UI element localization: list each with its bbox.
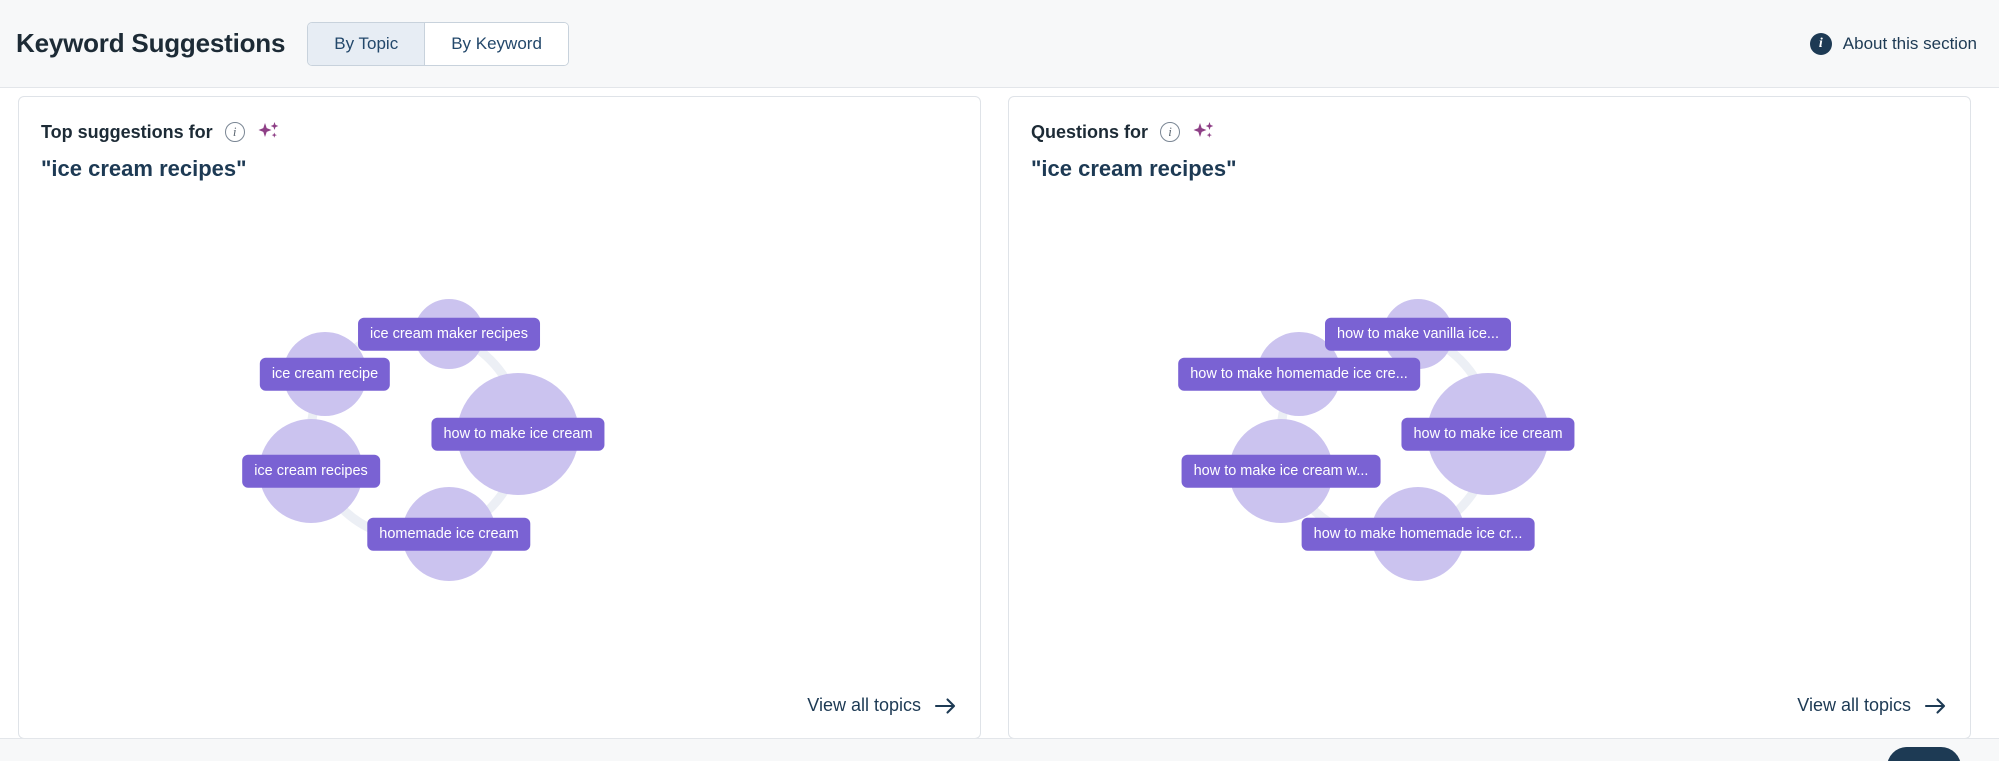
bubble-label[interactable]: ice cream maker recipes	[358, 318, 540, 351]
bubble-label[interactable]: how to make ice cream	[431, 418, 604, 451]
view-all-topics-link[interactable]: View all topics	[807, 695, 958, 716]
bubble-label[interactable]: how to make homemade ice cre...	[1178, 358, 1420, 391]
card-title: Top suggestions for	[41, 122, 213, 143]
card-title: Questions for	[1031, 122, 1148, 143]
info-outline-icon[interactable]: i	[225, 122, 245, 142]
card-keyword: "ice cream recipes"	[41, 156, 281, 182]
info-filled-icon: i	[1810, 33, 1832, 55]
bubble-graph-topics: ice cream maker recipes ice cream recipe…	[19, 207, 982, 657]
bottom-strip	[0, 738, 1999, 761]
bubble-label[interactable]: ice cream recipe	[260, 358, 390, 391]
tab-by-keyword[interactable]: By Keyword	[425, 23, 568, 65]
chat-widget-button[interactable]	[1887, 747, 1961, 761]
about-this-section-link[interactable]: i About this section	[1810, 33, 1977, 55]
bubble-label[interactable]: how to make ice cream w...	[1182, 455, 1381, 488]
about-this-section-label: About this section	[1843, 34, 1977, 54]
bubble-label[interactable]: homemade ice cream	[367, 518, 530, 551]
view-mode-tabs: By Topic By Keyword	[307, 22, 569, 66]
sparkle-icon	[1192, 121, 1216, 143]
card-header-questions: Questions for i "ice cream recipes"	[1031, 119, 1237, 182]
arrow-right-icon	[934, 697, 958, 715]
card-top-suggestions: Top suggestions for i "ice cream recipes…	[18, 96, 981, 739]
card-header-top-suggestions: Top suggestions for i "ice cream recipes…	[41, 119, 281, 182]
view-all-topics-label: View all topics	[1797, 695, 1911, 716]
card-keyword: "ice cream recipes"	[1031, 156, 1237, 182]
sparkle-icon	[257, 121, 281, 143]
card-questions: Questions for i "ice cream recipes" how …	[1008, 96, 1971, 739]
page-title: Keyword Suggestions	[16, 28, 285, 59]
bubble-label[interactable]: how to make homemade ice cr...	[1302, 518, 1535, 551]
bubble-label[interactable]: ice cream recipes	[242, 455, 380, 488]
view-all-topics-link[interactable]: View all topics	[1797, 695, 1948, 716]
bubble-label[interactable]: how to make vanilla ice...	[1325, 318, 1511, 351]
tab-by-topic[interactable]: By Topic	[308, 23, 425, 65]
bubble-graph-questions: how to make vanilla ice... how to make h…	[1009, 207, 1972, 657]
view-all-topics-label: View all topics	[807, 695, 921, 716]
bubble-label[interactable]: how to make ice cream	[1401, 418, 1574, 451]
arrow-right-icon	[1924, 697, 1948, 715]
top-header-bar: Keyword Suggestions By Topic By Keyword …	[0, 0, 1999, 88]
cards-container: Top suggestions for i "ice cream recipes…	[0, 88, 1999, 738]
info-outline-icon[interactable]: i	[1160, 122, 1180, 142]
